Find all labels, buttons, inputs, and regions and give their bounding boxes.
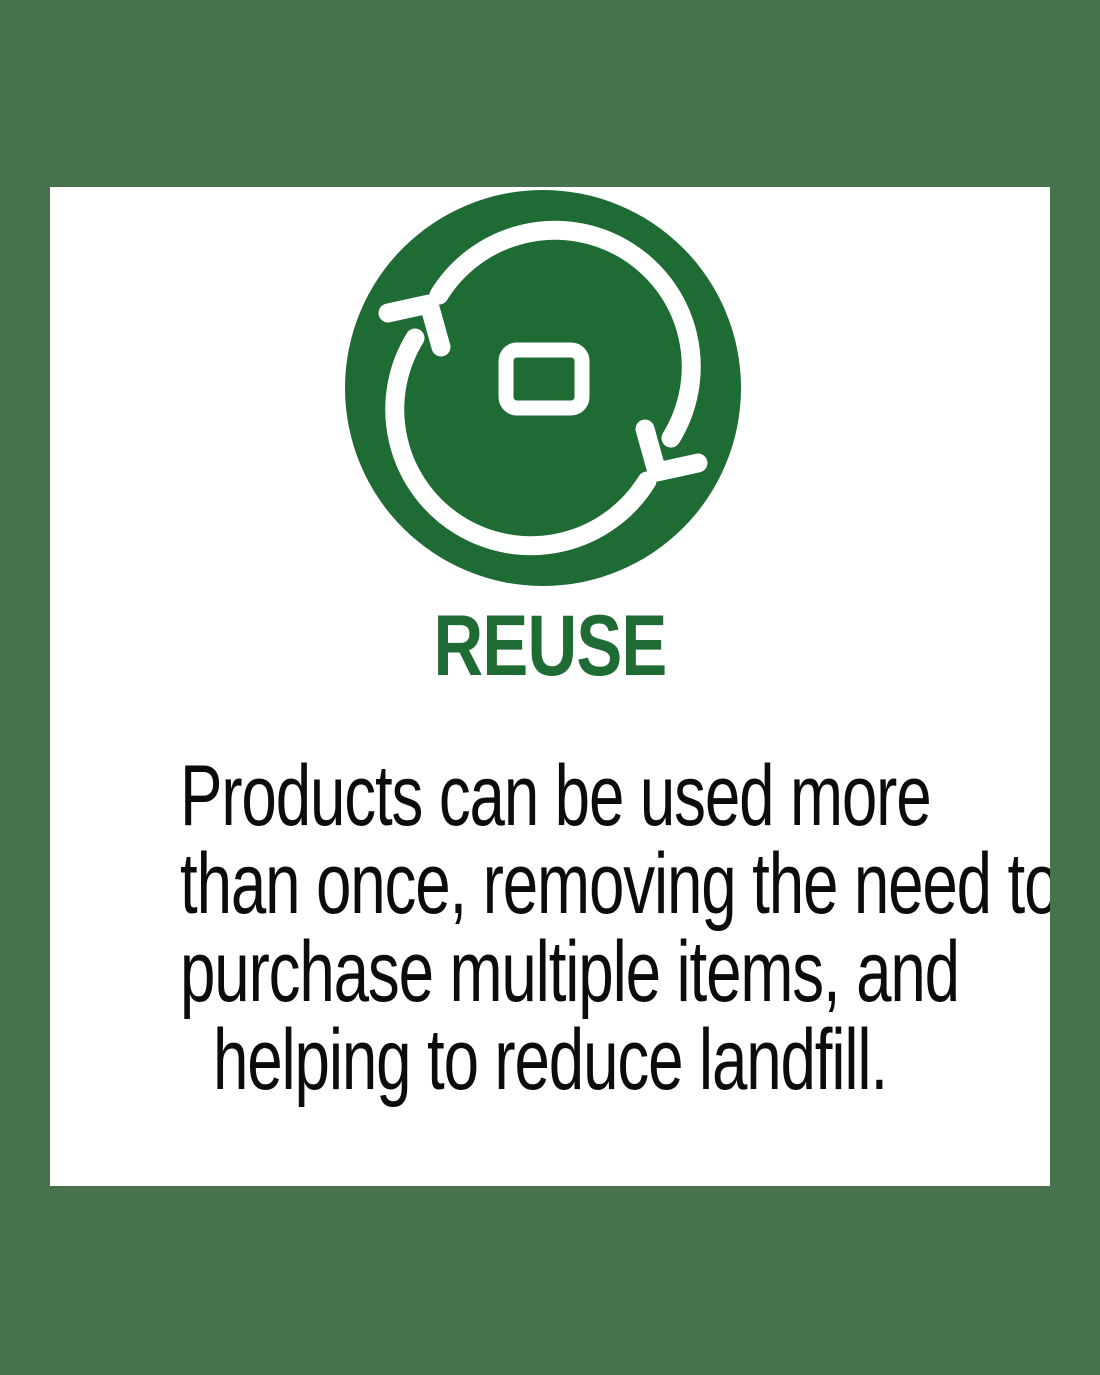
page-title: REUSE bbox=[150, 598, 950, 694]
reuse-info-card: REUSE Products can be used more than onc… bbox=[50, 187, 1050, 1186]
body-copy-line-1: Products can be used more bbox=[180, 752, 920, 840]
body-copy-line-4: helping to reduce landfill. bbox=[180, 1016, 920, 1104]
body-copy-line-3: purchase multiple items, and bbox=[180, 928, 920, 1016]
reuse-cycle-icon-svg bbox=[345, 190, 741, 586]
body-copy: Products can be used more than once, rem… bbox=[50, 752, 1050, 1104]
body-copy-line-2: than once, removing the need to bbox=[180, 840, 920, 928]
page-background: REUSE Products can be used more than onc… bbox=[0, 0, 1100, 1375]
reuse-cycle-icon bbox=[345, 190, 741, 586]
